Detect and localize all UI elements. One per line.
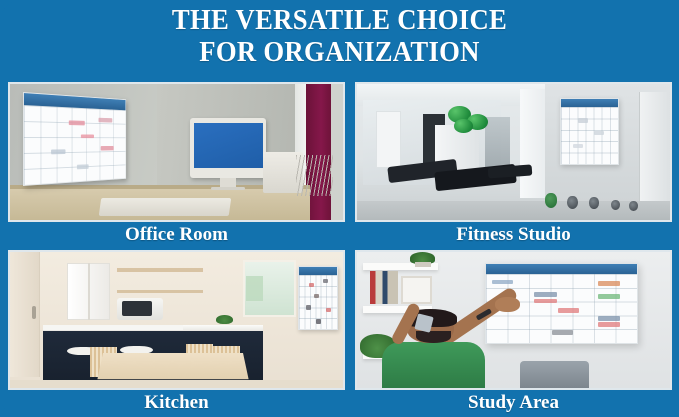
- microwave-door: [122, 301, 152, 316]
- calendar-entry: [598, 316, 621, 321]
- calendar-entry: [81, 134, 95, 138]
- panel-office-room: Office Room: [8, 82, 345, 247]
- poster-root: THE VERSATILE CHOICE FOR ORGANIZATION: [0, 0, 679, 417]
- title-line-2: FOR ORGANIZATION: [27, 36, 652, 68]
- caption-kitchen: Kitchen: [8, 390, 345, 415]
- study-person-body: [382, 342, 485, 388]
- panel-kitchen: Kitchen: [8, 250, 345, 415]
- calendar-grid: [561, 99, 617, 164]
- calendar-entry: [534, 299, 557, 304]
- office-wall-edge: [331, 84, 343, 220]
- calendar-entry: [309, 283, 314, 287]
- office-keyboard: [99, 198, 231, 216]
- caption-fitness-studio: Fitness Studio: [355, 222, 672, 247]
- fitness-wall-calendar: [560, 98, 618, 165]
- kitchen-dining-table: [98, 353, 249, 379]
- title-line-1: THE VERSATILE CHOICE: [27, 4, 652, 36]
- kitchen-floor: [10, 380, 343, 388]
- study-person-beard: [416, 331, 450, 343]
- gym-door-left: [376, 111, 401, 168]
- calendar-entry: [306, 305, 311, 309]
- kettlebell: [567, 196, 578, 210]
- calendar-entry: [598, 294, 621, 299]
- monitor-base: [211, 187, 245, 191]
- calendar-entry: [552, 330, 573, 335]
- kettlebell: [545, 193, 558, 208]
- monitor-stand: [220, 178, 235, 188]
- calendar-grid: [299, 267, 337, 330]
- calendar-entry: [52, 150, 66, 155]
- calendar-entry: [69, 120, 85, 126]
- kitchen-wall-calendar: [298, 266, 338, 331]
- calendar-entry: [323, 279, 328, 283]
- fridge-door-split: [88, 263, 90, 320]
- gym-equipment-rack: [485, 117, 510, 171]
- caption-study-area: Study Area: [355, 390, 672, 415]
- kitchen-plant: [216, 315, 233, 325]
- calendar-entry: [558, 308, 579, 313]
- calendar-entry: [598, 281, 621, 286]
- calendar-entry: [77, 164, 89, 169]
- panel-study-area: Study Area: [355, 250, 672, 415]
- panel-grid: Office Room: [0, 78, 679, 417]
- calendar-entry: [326, 308, 331, 312]
- calendar-entry: [492, 280, 513, 285]
- calendar-header-band: [299, 267, 337, 275]
- office-wall-calendar: [23, 92, 126, 186]
- calendar-entry: [573, 144, 583, 148]
- calendar-entry: [578, 118, 588, 123]
- calendar-entry: [101, 146, 114, 151]
- calendar-entry: [598, 322, 621, 327]
- calendar-grid: [24, 93, 125, 185]
- study-plant-pot: [415, 262, 431, 267]
- office-magenta-panel: [306, 84, 331, 220]
- calendar-entry: [316, 319, 321, 323]
- office-cables: [296, 155, 333, 196]
- calendar-entry: [534, 292, 557, 297]
- photo-kitchen: [8, 250, 345, 390]
- kitchen-shelf-upper: [117, 268, 204, 271]
- kitchen-shelf-lower: [117, 290, 204, 293]
- exercise-ball: [454, 119, 473, 133]
- calendar-header-band: [486, 264, 636, 274]
- study-pointing-hand: [495, 297, 520, 312]
- photo-study-area: [355, 250, 672, 390]
- study-picture-frame: [401, 276, 432, 303]
- panel-fitness-studio: Fitness Studio: [355, 82, 672, 247]
- photo-fitness-studio: [355, 82, 672, 222]
- photo-office-room: [8, 82, 345, 222]
- office-monitor: [190, 118, 267, 178]
- calendar-day-rows: [561, 107, 617, 164]
- monitor-screen: [194, 123, 263, 167]
- caption-office-room: Office Room: [8, 222, 345, 247]
- gym-floor: [357, 201, 670, 220]
- calendar-entry: [594, 131, 604, 135]
- window-greenery: [246, 276, 263, 300]
- page-title: THE VERSATILE CHOICE FOR ORGANIZATION: [0, 4, 679, 74]
- study-laptop: [520, 361, 589, 388]
- study-books: [370, 271, 398, 304]
- door-handle: [32, 306, 36, 318]
- calendar-entry: [98, 118, 112, 122]
- calendar-header-band: [561, 99, 617, 107]
- kitchen-island-top: [43, 325, 183, 329]
- gym-door-right: [639, 92, 670, 204]
